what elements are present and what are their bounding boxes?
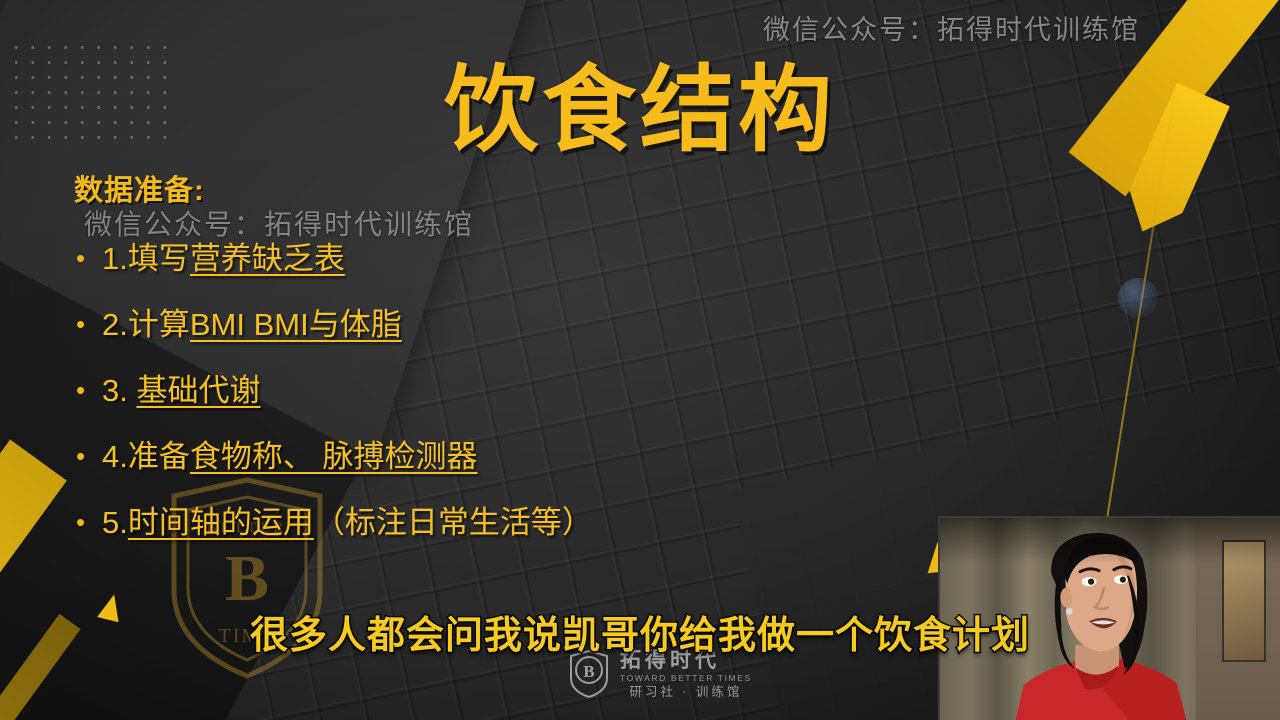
section-heading: 数据准备: <box>74 167 205 209</box>
bullet-prefix: 2.计算 <box>102 307 190 342</box>
watermark-top-right: 微信公众号：拓得时代训练馆 <box>763 8 1140 47</box>
bullet-text: 2.计算BMI BMI与体脂 <box>102 304 402 346</box>
watermark-middle-left: 微信公众号：拓得时代训练馆 <box>84 203 474 243</box>
bullet-prefix: 3. <box>102 373 136 408</box>
blue-orb-glow <box>1118 278 1158 318</box>
bullet-text: 5.时间轴的运用（标注日常生活等） <box>102 502 593 544</box>
bullet-prefix: 1.填写 <box>102 241 190 276</box>
bullet-prefix: 4.准备 <box>102 439 190 474</box>
svg-text:B: B <box>583 662 594 681</box>
list-item: • 3. 基础代谢 <box>76 370 776 414</box>
bullet-text: 4.准备食物称、 脉搏检测器 <box>102 436 477 478</box>
list-item: • 1.填写营养缺乏表 <box>76 238 776 282</box>
page-title: 饮食结构 <box>0 34 1280 170</box>
list-item: • 4.准备食物称、 脉搏检测器 <box>76 436 776 480</box>
bullet-text: 3. 基础代谢 <box>102 370 260 412</box>
bullet-dot-icon: • <box>76 436 102 476</box>
slide-stage: BETTER B TIME 饮食结构 微信公众号：拓得时代训练馆 微信公众号：拓… <box>0 0 1280 720</box>
bullet-dot-icon: • <box>76 370 102 410</box>
webcam-top-shadow <box>940 518 1280 564</box>
brand-name-en: TOWARD BETTER TIMES <box>620 674 752 683</box>
brand-tagline: 研习社 · 训练馆 <box>620 686 752 699</box>
bullet-text: 1.填写营养缺乏表 <box>102 238 345 280</box>
bullet-dot-icon: • <box>76 502 102 542</box>
bullet-prefix: 5. <box>102 505 128 540</box>
bullet-underlined: 时间轴的运用 <box>128 505 314 540</box>
bullet-underlined: BMI BMI与体脂 <box>190 307 402 342</box>
bullet-underlined: 营养缺乏表 <box>190 241 345 276</box>
bullet-underlined: 基础代谢 <box>136 373 260 408</box>
bullet-suffix: （标注日常生活等） <box>314 505 593 540</box>
bullet-underlined: 食物称、 脉搏检测器 <box>190 439 478 474</box>
bullet-list: • 1.填写营养缺乏表 • 2.计算BMI BMI与体脂 • 3. 基础代谢 •… <box>76 238 776 568</box>
subtitle-caption: 很多人都会问我说凯哥你给我做一个饮食计划 <box>0 604 1280 659</box>
bullet-dot-icon: • <box>76 304 102 344</box>
list-item: • 5.时间轴的运用（标注日常生活等） <box>76 502 776 546</box>
list-item: • 2.计算BMI BMI与体脂 <box>76 304 776 348</box>
bullet-dot-icon: • <box>76 238 102 278</box>
